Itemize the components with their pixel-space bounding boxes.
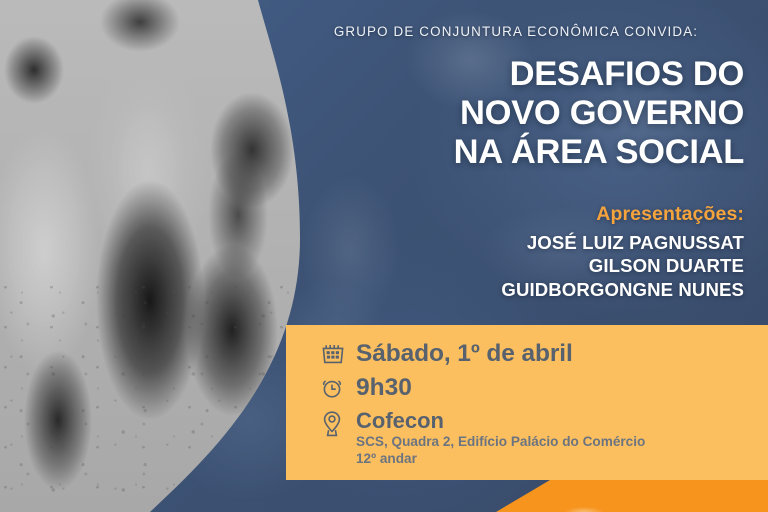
title-line-3: NA ÁREA SOCIAL [282,133,744,172]
location-pin-icon [320,408,350,438]
bottom-partial-graphic [556,498,612,512]
event-time: 9h30 [356,373,412,403]
event-date: Sábado, 1º de abril [356,339,573,369]
venue-name: Cofecon [356,408,645,433]
presenters-label: Apresentações: [596,203,744,226]
page-title: DESAFIOS DO NOVO GOVERNO NA ÁREA SOCIAL [282,55,744,172]
event-details-card: Sábado, 1º de abril 9h30 [286,325,768,480]
presenter-name: GILSON DUARTE [501,254,744,277]
presenters-list: JOSÉ LUIZ PAGNUSSAT GILSON DUARTE GUIDBO… [501,231,744,301]
calendar-icon [320,339,350,369]
detail-row-location: Cofecon SCS, Quadra 2, Edifício Palácio … [320,408,768,467]
details-rows: Sábado, 1º de abril 9h30 [286,325,768,467]
detail-row-time: 9h30 [320,373,768,403]
event-poster: GRUPO DE CONJUNTURA ECONÔMICA CONVIDA: D… [0,0,768,512]
title-line-1: DESAFIOS DO [282,55,744,94]
alarm-clock-icon [320,373,350,403]
presenter-name: GUIDBORGONGNE NUNES [501,278,744,301]
presenter-name: JOSÉ LUIZ PAGNUSSAT [501,231,744,254]
kicker-text: GRUPO DE CONJUNTURA ECONÔMICA CONVIDA: [286,24,746,39]
venue-address-line-2: 12º andar [356,450,645,467]
detail-row-date: Sábado, 1º de abril [320,339,768,369]
location-text-group: Cofecon SCS, Quadra 2, Edifício Palácio … [356,408,645,467]
venue-address-line-1: SCS, Quadra 2, Edifício Palácio do Comér… [356,433,645,450]
title-line-2: NOVO GOVERNO [282,94,744,133]
